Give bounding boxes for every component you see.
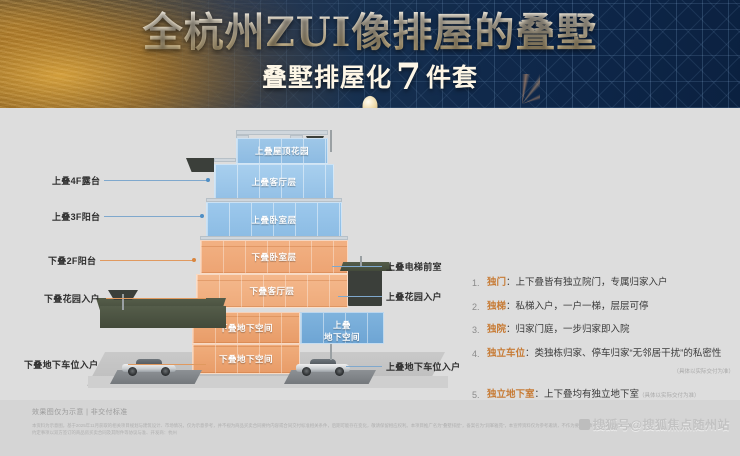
car-wheel-rear [335, 367, 344, 376]
label-terrace-4f: 上叠4F露台 [52, 174, 100, 187]
floor-label-upper-underground-line2: 地下空间 [301, 331, 383, 343]
feature-body-3: ：归家门庭，一步归家即入院 [506, 324, 630, 335]
floor-label-upper-bedroom: 上叠卧室层 [207, 214, 341, 226]
feature-item-3: 3. 独院：归家门庭，一步归家即入院 [472, 323, 736, 337]
feature-text-2: 独梯：私梯入户，一户一梯，层层可停 [472, 300, 736, 314]
car-right [296, 358, 350, 376]
banner-subtitle: 叠墅排屋化7件套 [0, 60, 740, 95]
banner-subtitle-suffix: 件套 [426, 63, 478, 92]
underground-post [330, 344, 332, 360]
leader-dot-balcony-3f [200, 214, 204, 218]
car-left [122, 358, 176, 376]
label-garden-entry: 下叠花园入户 [44, 292, 100, 305]
floor-label-upper-living: 上叠客厅层 [215, 176, 333, 188]
footer-note: 效果图仅为示意 | 非交付标准 [32, 407, 128, 417]
left-roof-ledge [214, 158, 236, 162]
floor-upper-bedroom: 上叠卧室层 [206, 202, 342, 238]
hero-banner: 全杭州ZUI像排屋的叠墅 叠墅排屋化7件套 [0, 0, 740, 108]
leader-line-balcony-3f [104, 216, 202, 217]
garden-entry-wall [100, 306, 226, 328]
banner-title: 全杭州ZUI像排屋的叠墅 [0, 8, 740, 58]
feature-number-3: 3. [472, 323, 485, 337]
floor-upper-living: 上叠客厅层 [214, 164, 334, 200]
leader-line-terrace-4f [104, 180, 208, 181]
leader-dot-balcony-2f [192, 258, 196, 262]
garden-entry-post [122, 294, 124, 310]
floor-roof-garden: 上叠屋顶花园 [236, 138, 328, 164]
label-balcony-2f: 下叠2F阳台 [48, 254, 96, 267]
banner-pearl-ornament [363, 96, 378, 108]
floor-label-upper-underground-line1: 上叠 [301, 319, 383, 331]
floor-label-roof-garden: 上叠屋顶花园 [237, 145, 327, 157]
floor-upper-underground: 上叠 地下空间 [300, 312, 384, 344]
floor-label-lower-living: 下叠客厅层 [197, 285, 347, 297]
canopy-post [360, 256, 362, 266]
feature-item-4: 4. 独立车位：类独栋归家、停车归家“无邻居干扰”的私密性 （具体以实际交付为准… [472, 347, 736, 379]
watermark: 搜狐号@搜狐焦点随州站 [579, 416, 730, 433]
feature-note-5: （具体以实际交付为准） [639, 393, 700, 399]
feature-keyword-2: 独梯 [487, 301, 506, 312]
floor-lower-bedroom: 下叠卧室层 [200, 240, 348, 274]
leader-line-parking-entry [128, 364, 206, 365]
label-parking-entry-upper: 上叠地下车位入户 [386, 360, 460, 373]
floor-lower-underground-2: 下叠地下空间 [192, 344, 300, 374]
feature-body-5: ：上下叠均有独立地下室 [535, 389, 640, 400]
banner-subtitle-prefix: 叠墅排屋化 [262, 63, 392, 92]
label-garden-entry-upper: 上叠花园入户 [386, 290, 442, 303]
banner-subtitle-number: 7 [392, 56, 426, 98]
building-section-diagram: 上叠屋顶花园 上叠客厅层 上叠卧室层 下叠卧室层 下叠客厅层 [0, 108, 740, 400]
feature-item-2: 2. 独梯：私梯入户，一户一梯，层层可停 [472, 300, 736, 314]
footer-disclaimer: 本资料为示意图，基于2025年11月获取的相关项目规划与建筑设计、市场情况，仅为… [32, 422, 632, 436]
feature-text-1: 独门：上下叠皆有独立院门，专属归家入户 [472, 276, 736, 290]
leader-line-parking-entry-upper [346, 366, 382, 367]
feature-number-1: 1. [472, 276, 485, 290]
label-elevator-lobby: 上叠电梯前室 [386, 260, 442, 273]
leader-line-garden-entry [106, 298, 206, 299]
feature-keyword-1: 独门 [487, 277, 506, 288]
feature-keyword-5: 独立地下室 [487, 389, 535, 400]
feature-body-4: ：类独栋归家、停车归家“无邻居干扰”的私密性 [525, 348, 721, 359]
feature-note-4: （具体以实际交付为准） [472, 365, 736, 379]
leader-dot-terrace-4f [206, 178, 210, 182]
watermark-text: 搜狐号@搜狐焦点随州站 [593, 418, 730, 432]
label-parking-entry: 下叠地下车位入户 [24, 358, 98, 371]
floor-label-lower-underground-2: 下叠地下空间 [193, 353, 299, 365]
leader-line-balcony-2f [100, 260, 194, 261]
feature-text-3: 独院：归家门庭，一步归家即入院 [472, 323, 736, 337]
feature-body-1: ：上下叠皆有独立院门，专属归家入户 [506, 277, 668, 288]
feature-text-4: 独立车位：类独栋归家、停车归家“无邻居干扰”的私密性 [472, 347, 736, 361]
car-wheel-front [302, 367, 311, 376]
feature-number-2: 2. [472, 300, 485, 314]
left-roof-wedge [186, 158, 214, 172]
elevator-lobby-box [348, 270, 382, 306]
roof-parapet [236, 130, 328, 135]
leader-line-garden-entry-upper [338, 296, 382, 297]
floor-label-lower-bedroom: 下叠卧室层 [201, 251, 347, 263]
feature-number-4: 4. [472, 347, 485, 361]
car-wheel-front [128, 367, 137, 376]
feature-keyword-4: 独立车位 [487, 348, 525, 359]
leader-line-elevator-lobby [332, 266, 382, 267]
roof-post [330, 130, 332, 152]
feature-keyword-3: 独院 [487, 324, 506, 335]
feature-body-2: ：私梯入户，一户一梯，层层可停 [506, 301, 649, 312]
car-wheel-rear [161, 367, 170, 376]
page-root: 全杭州ZUI像排屋的叠墅 叠墅排屋化7件套 上叠屋顶花园 上叠客厅层 [0, 0, 740, 456]
sohu-logo-icon [579, 419, 590, 430]
label-balcony-3f: 上叠3F阳台 [52, 210, 100, 223]
feature-item-1: 1. 独门：上下叠皆有独立院门，专属归家入户 [472, 276, 736, 290]
